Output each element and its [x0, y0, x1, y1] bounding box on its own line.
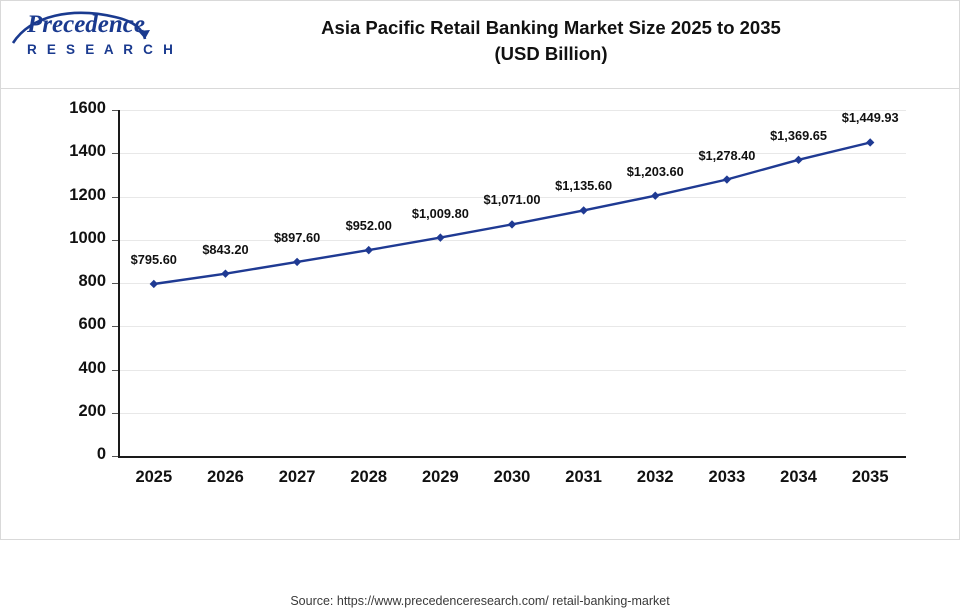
brand-logo: Precedence R E S E A R C H	[11, 9, 191, 71]
line-chart: 0200400600800100012001400160020252026202…	[1, 89, 959, 539]
data-point-marker	[723, 175, 731, 183]
data-point-marker	[579, 206, 587, 214]
title-line-1: Asia Pacific Retail Banking Market Size …	[201, 15, 901, 41]
data-point-label: $1,369.65	[739, 128, 859, 143]
data-point-label: $1,135.60	[524, 178, 644, 193]
brand-subtitle: R E S E A R C H	[27, 42, 176, 57]
data-point-label: $1,449.93	[810, 110, 930, 125]
data-point-marker	[221, 269, 229, 277]
data-point-marker	[508, 220, 516, 228]
data-point-marker	[866, 138, 874, 146]
page-title: Asia Pacific Retail Banking Market Size …	[201, 15, 901, 67]
title-line-2: (USD Billion)	[201, 41, 901, 67]
data-point-label: $1,203.60	[595, 164, 715, 179]
data-point-marker	[436, 233, 444, 241]
data-point-label: $1,071.00	[452, 192, 572, 207]
page-header: Precedence R E S E A R C H Asia Pacific …	[1, 1, 959, 89]
data-series-line	[1, 89, 959, 539]
data-point-label: $1,278.40	[667, 148, 787, 163]
data-point-marker	[293, 258, 301, 266]
data-point-marker	[651, 192, 659, 200]
source-note: Source: https://www.precedenceresearch.c…	[1, 594, 959, 608]
data-point-marker	[794, 156, 802, 164]
brand-name: Precedence	[27, 11, 145, 39]
data-point-marker	[365, 246, 373, 254]
data-point-marker	[150, 280, 158, 288]
data-point-label: $1,009.80	[380, 206, 500, 221]
chart-page: Precedence R E S E A R C H Asia Pacific …	[0, 0, 960, 540]
